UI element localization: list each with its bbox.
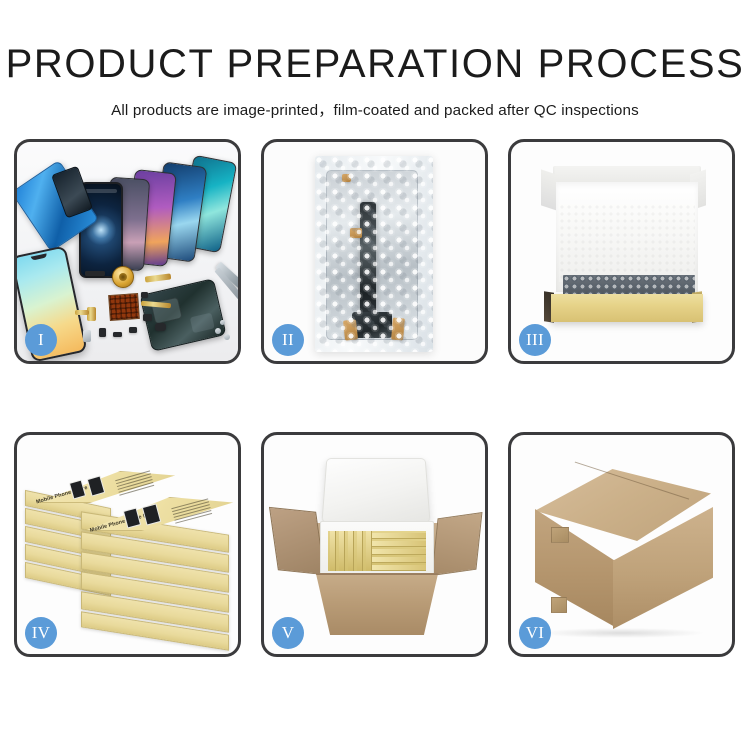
yellow-boxes-inside-icon — [328, 531, 426, 571]
chip-icon — [143, 314, 152, 321]
step-panel-ii[interactable]: II — [261, 139, 488, 364]
screw-icon — [224, 334, 230, 340]
chip-icon — [129, 327, 137, 333]
step-badge-vi: VI — [519, 617, 551, 649]
copper-mesh-icon — [108, 293, 140, 321]
step-panel-vi[interactable]: VI — [508, 432, 735, 657]
chip-icon — [141, 292, 148, 298]
step-badge-v: V — [272, 617, 304, 649]
styrofoam-lid-icon — [321, 458, 430, 523]
product-preparation-infographic: PRODUCT PREPARATION PROCESS All products… — [0, 0, 750, 750]
box-lid-left-icon — [541, 169, 557, 210]
chip-icon — [99, 328, 106, 337]
foam-sheet-icon — [559, 204, 695, 282]
screw-icon — [220, 320, 225, 325]
step-panel-iv[interactable]: Mobile Phone Spare Parts Mobile Phone Sp… — [14, 432, 241, 657]
flex-cable-icon — [75, 310, 89, 315]
process-step-grid: I II — [14, 139, 736, 679]
gold-coil-icon — [112, 266, 134, 288]
page-title: PRODUCT PREPARATION PROCESS — [0, 44, 750, 84]
carton-flap-right-icon — [432, 512, 483, 576]
carton-tape-icon — [551, 597, 567, 613]
step-panel-iii[interactable]: III — [508, 139, 735, 364]
step-badge-iii: III — [519, 324, 551, 356]
header: PRODUCT PREPARATION PROCESS All products… — [0, 0, 750, 120]
step-badge-iv: IV — [25, 617, 57, 649]
carton-tape-icon — [551, 527, 569, 543]
kraft-box-front-icon — [551, 294, 703, 322]
carton-flap-left-icon — [269, 507, 325, 575]
step-panel-v[interactable]: V — [261, 432, 488, 657]
carton-shadow — [541, 628, 703, 638]
chip-icon — [113, 332, 122, 337]
step-panel-i[interactable]: I — [14, 139, 241, 364]
page-subtitle: All products are image-printed，film-coat… — [0, 98, 750, 120]
carton-front-wall-icon — [308, 575, 446, 635]
step-badge-ii: II — [272, 324, 304, 356]
small-part-icon — [83, 330, 91, 342]
chip-icon — [85, 271, 105, 276]
step-badge-i: I — [25, 324, 57, 356]
chip-icon — [155, 323, 166, 331]
bubble-texture-icon — [315, 156, 433, 352]
screw-icon — [215, 328, 221, 334]
